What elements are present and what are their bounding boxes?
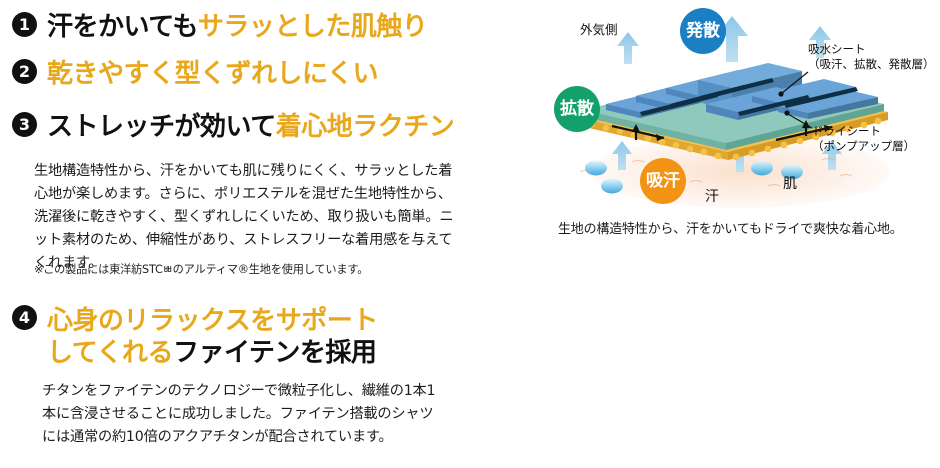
feature-headline-3-black: ストレッチが効いて (47, 111, 276, 141)
badge-kakusan-label: 拡散 (560, 101, 594, 118)
feature-headline-1-orange: サラッとした肌触り (198, 11, 428, 41)
feature-headline-1-black: 汗をかいても (47, 11, 198, 41)
feature-headline-4-line1: 心身のリラックスをサポート (47, 305, 378, 337)
feature-headline-2: 乾きやすく型くずれしにくい (47, 59, 378, 88)
feature-number-badge-3: 3 (12, 112, 37, 137)
feature-number-badge-1: 1 (12, 12, 37, 37)
droplet-icon (751, 161, 773, 176)
feature-number-badge-2: 2 (12, 59, 37, 84)
fabric-structure-diagram: 発散 拡散 吸汗 外気側 肌 汗 吸水シート （吸汗、拡散、発散層） ドライシー… (540, 0, 940, 215)
callout-absorbing-sheet: 吸水シート （吸汗、拡散、発散層） (808, 42, 935, 72)
badge-kakusan: 拡散 (554, 86, 600, 132)
callout-dry-sheet-line2: （ポンプアップ層） (812, 139, 915, 154)
badge-hassan-label: 発散 (686, 23, 720, 40)
feature-number-badge-4: 4 (12, 305, 37, 330)
feature-item-3: 3 ストレッチが効いて着心地ラクチン (12, 112, 454, 141)
arrow-up-icon (617, 32, 639, 64)
fabric-footnote: ※この製品には東洋紡STCㅃのアルティマ®生地を使用しています。 (34, 262, 464, 278)
feature-headline-3-orange: 着心地ラクチン (276, 111, 455, 141)
badge-hassan: 発散 (680, 8, 726, 54)
label-skin: 肌 (783, 175, 797, 193)
callout-absorbing-sheet-line2: （吸汗、拡散、発散層） (808, 57, 935, 72)
callout-dry-sheet-line1: ドライシート (812, 124, 915, 139)
callout-absorbing-sheet-line1: 吸水シート (808, 42, 935, 57)
label-sweat: 汗 (705, 188, 719, 206)
feature-headline-4-orange-1: 心身のリラックスをサポート (47, 305, 378, 335)
feature-headline-4-orange-2: してくれる (47, 337, 173, 367)
feature-3-body-text: 生地構造特性から、汗をかいても肌に残りにくく、サラッとした着心地が楽しめます。さ… (34, 160, 454, 275)
feature-item-1: 1 汗をかいてもサラッとした肌触り (12, 12, 427, 41)
feature-4-body-text: チタンをファイテンのテクノロジーで微粒子化し、繊維の1本1本に含浸させることに成… (42, 380, 442, 449)
callout-dry-sheet: ドライシート （ポンプアップ層） (812, 124, 915, 154)
feature-headline-4-black-2: ファイテンを採用 (173, 337, 376, 367)
feature-headline-1: 汗をかいてもサラッとした肌触り (47, 12, 427, 41)
droplet-icon (585, 161, 607, 176)
feature-headline-2-orange: 乾きやすく型くずれしにくい (47, 58, 378, 88)
feature-item-2: 2 乾きやすく型くずれしにくい (12, 59, 378, 88)
features-column: 1 汗をかいてもサラッとした肌触り 2 乾きやすく型くずれしにくい 3 ストレッ… (0, 0, 520, 468)
badge-kyukan: 吸汗 (640, 158, 686, 204)
diagram-caption: 生地の構造特性から、汗をかいてもドライで爽快な着心地。 (558, 218, 938, 237)
droplet-icon (601, 179, 623, 194)
feature-item-4: 4 心身のリラックスをサポート してくれるファイテンを採用 (12, 305, 378, 368)
diagram-column: 発散 拡散 吸汗 外気側 肌 汗 吸水シート （吸汗、拡散、発散層） ドライシー… (540, 0, 940, 468)
label-outside-air: 外気側 (580, 22, 618, 38)
feature-headline-3: ストレッチが効いて着心地ラクチン (47, 112, 454, 141)
badge-kyukan-label: 吸汗 (646, 173, 680, 190)
feature-headline-4: 心身のリラックスをサポート してくれるファイテンを採用 (47, 305, 378, 368)
feature-headline-4-line2: してくれるファイテンを採用 (47, 337, 378, 369)
